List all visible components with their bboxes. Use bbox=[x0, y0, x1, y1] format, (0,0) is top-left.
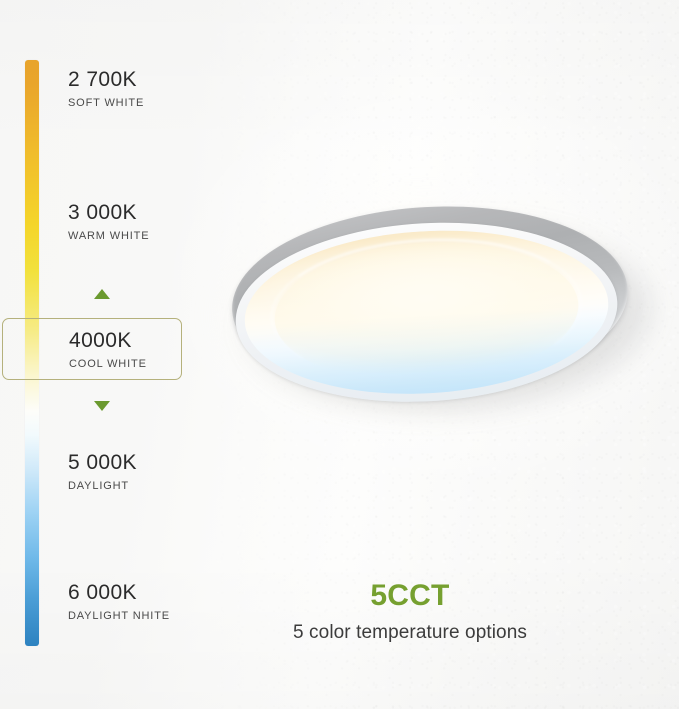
temperature-step-2700k[interactable]: 2 700K SOFT WHITE bbox=[68, 68, 144, 110]
temperature-kelvin-value: 6 000K bbox=[68, 581, 170, 605]
caption-title: 5CCT bbox=[230, 578, 590, 614]
temperature-label: DAYLIGHT NHITE bbox=[68, 609, 170, 623]
triangle-down-icon[interactable] bbox=[94, 401, 110, 411]
led-ceiling-light-fixture bbox=[223, 189, 638, 416]
temperature-kelvin-value: 3 000K bbox=[68, 201, 149, 225]
temperature-step-3000k[interactable]: 3 000K WARM WHITE bbox=[68, 201, 149, 243]
temperature-label: COOL WHITE bbox=[69, 357, 147, 371]
caption-block: 5CCT 5 color temperature options bbox=[230, 578, 590, 645]
temperature-step-4000k-selected[interactable]: 4000K COOL WHITE bbox=[2, 318, 182, 380]
temperature-kelvin-value: 2 700K bbox=[68, 68, 144, 92]
triangle-up-icon[interactable] bbox=[94, 289, 110, 299]
temperature-label: WARM WHITE bbox=[68, 229, 149, 243]
temperature-kelvin-value: 4000K bbox=[69, 329, 147, 353]
temperature-step-6000k[interactable]: 6 000K DAYLIGHT NHITE bbox=[68, 581, 170, 623]
temperature-kelvin-value: 5 000K bbox=[68, 451, 137, 475]
selected-card-content: 4000K COOL WHITE bbox=[69, 329, 147, 371]
caption-subtitle: 5 color temperature options bbox=[230, 621, 590, 645]
product-infographic: 2 700K SOFT WHITE 3 000K WARM WHITE 4000… bbox=[0, 0, 679, 709]
temperature-label: SOFT WHITE bbox=[68, 96, 144, 110]
temperature-label: DAYLIGHT bbox=[68, 479, 137, 493]
temperature-step-5000k[interactable]: 5 000K DAYLIGHT bbox=[68, 451, 137, 493]
